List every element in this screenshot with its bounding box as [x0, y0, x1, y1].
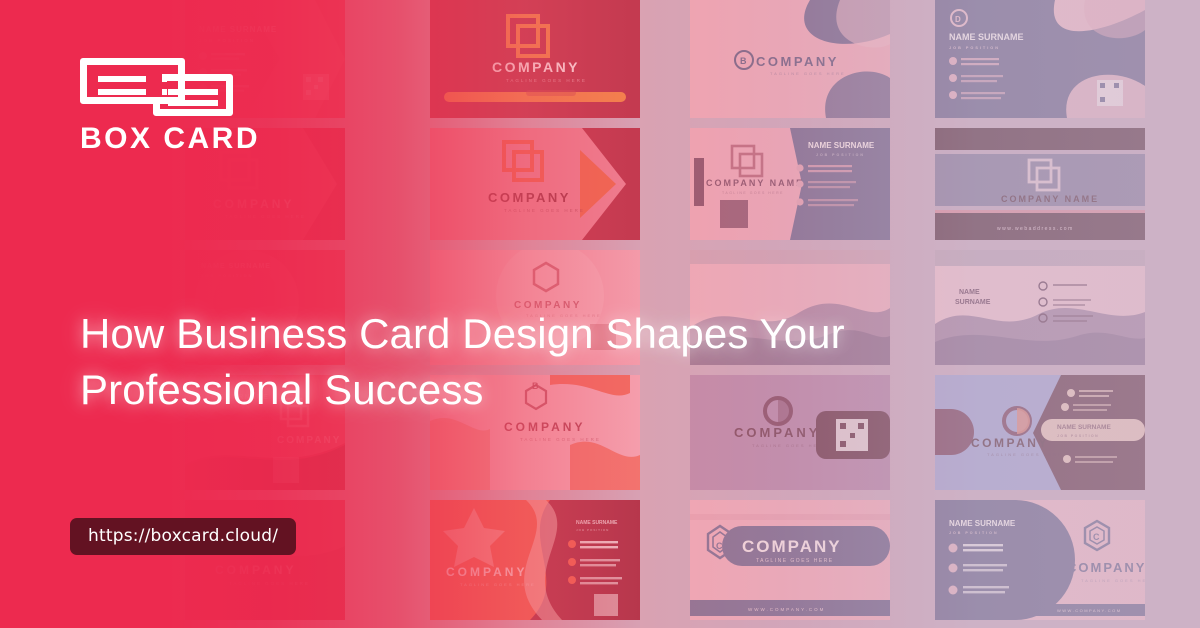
two-overlapping-cards-icon: [80, 58, 232, 116]
page-title: How Business Card Design Shapes Your Pro…: [80, 306, 880, 418]
brand-name: BOX CARD: [80, 124, 260, 154]
url-badge[interactable]: https://boxcard.cloud/: [70, 518, 296, 555]
share-card-canvas: NAME SURNAME JOB POSITION: [0, 0, 1200, 628]
logo-card-front: [153, 74, 233, 116]
brand-logo: [80, 58, 232, 116]
